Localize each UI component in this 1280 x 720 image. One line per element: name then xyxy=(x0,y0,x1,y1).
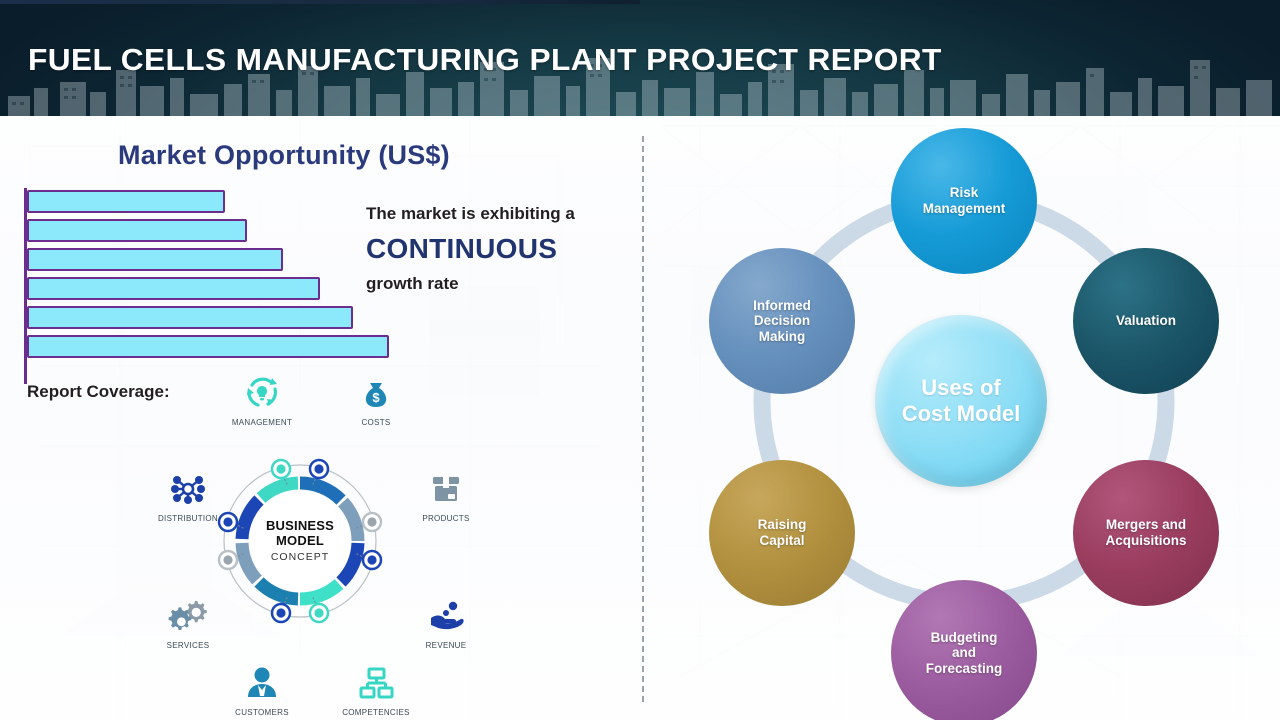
bar-6 xyxy=(27,335,389,358)
page-title: FUEL CELLS MANUFACTURING PLANT PROJECT R… xyxy=(28,42,942,78)
node-risk-management[interactable]: Risk Management xyxy=(891,128,1037,274)
left-panel-title: Market Opportunity (US$) xyxy=(118,140,450,171)
bm-item-customers[interactable]: CUSTOMERS xyxy=(214,661,310,717)
callout-line-3: growth rate xyxy=(366,274,636,294)
user-person-icon xyxy=(214,661,310,705)
recycle-bulb-icon xyxy=(214,371,310,415)
node-raising-capital[interactable]: Raising Capital xyxy=(709,460,855,606)
bm-item-services[interactable]: SERVICES xyxy=(140,594,236,650)
gears-icon xyxy=(140,594,236,638)
network-nodes-icon xyxy=(140,467,236,511)
svg-text:$: $ xyxy=(372,390,380,405)
bm-label-services: SERVICES xyxy=(140,641,236,650)
node-budgeting-label: Budgeting and Forecasting xyxy=(920,630,1009,677)
bm-label-management: MANAGEMENT xyxy=(214,418,310,427)
money-bag-icon: $ xyxy=(328,371,424,415)
bm-label-customers: CUSTOMERS xyxy=(214,708,310,717)
node-informed-decision-making[interactable]: Informed Decision Making xyxy=(709,248,855,394)
panel-divider xyxy=(642,136,644,702)
bar-4 xyxy=(27,277,320,300)
callout-line-1: The market is exhibiting a xyxy=(366,204,636,224)
bar-1 xyxy=(27,190,225,213)
bm-label-competencies: COMPETENCIES xyxy=(328,708,424,717)
node-valuation[interactable]: Valuation xyxy=(1073,248,1219,394)
bar-2 xyxy=(27,219,247,242)
node-risk-management-label: Risk Management xyxy=(917,185,1012,216)
bar-5 xyxy=(27,306,353,329)
bm-label-revenue: REVENUE xyxy=(398,641,494,650)
bm-item-revenue[interactable]: REVENUE xyxy=(398,594,494,650)
node-budgeting-and-forecasting[interactable]: Budgeting and Forecasting xyxy=(891,580,1037,720)
bm-label-distribution: DISTRIBUTION xyxy=(140,514,236,523)
node-valuation-label: Valuation xyxy=(1110,313,1182,329)
center-node-line-1: Uses of xyxy=(896,375,1027,401)
growth-callout: The market is exhibiting a CONTINUOUS gr… xyxy=(366,204,636,294)
bm-item-distribution[interactable]: DISTRIBUTION xyxy=(140,467,236,523)
uses-of-cost-model-diagram: Uses of Cost Model Risk Management Valua… xyxy=(690,130,1270,710)
node-informed-label: Informed Decision Making xyxy=(747,298,817,345)
bm-item-competencies[interactable]: COMPETENCIES xyxy=(328,661,424,717)
bm-item-costs[interactable]: $ COSTS xyxy=(328,371,424,427)
node-mergers-label: Mergers and Acquisitions xyxy=(1099,517,1192,548)
bm-label-costs: COSTS xyxy=(328,418,424,427)
package-box-icon xyxy=(398,467,494,511)
hand-coins-icon xyxy=(398,594,494,638)
center-node-line-2: Cost Model xyxy=(896,401,1027,427)
node-mergers-and-acquisitions[interactable]: Mergers and Acquisitions xyxy=(1073,460,1219,606)
bm-item-products[interactable]: PRODUCTS xyxy=(398,467,494,523)
slide-body: Market Opportunity (US$) The market is e… xyxy=(0,116,1280,720)
bar-3 xyxy=(27,248,283,271)
bm-item-management[interactable]: MANAGEMENT xyxy=(214,371,310,427)
org-chart-icon xyxy=(328,661,424,705)
center-node-uses-of-cost-model[interactable]: Uses of Cost Model xyxy=(875,315,1047,487)
market-opportunity-bar-chart xyxy=(24,188,424,384)
page-header: FUEL CELLS MANUFACTURING PLANT PROJECT R… xyxy=(0,0,1280,116)
business-model-diagram: BUSINESS MODEL CONCEPT MANAGEMENT xyxy=(140,371,500,706)
callout-line-2: CONTINUOUS xyxy=(366,233,636,265)
node-raising-capital-label: Raising Capital xyxy=(752,517,813,548)
header-top-accent xyxy=(0,0,640,4)
bm-label-products: PRODUCTS xyxy=(398,514,494,523)
